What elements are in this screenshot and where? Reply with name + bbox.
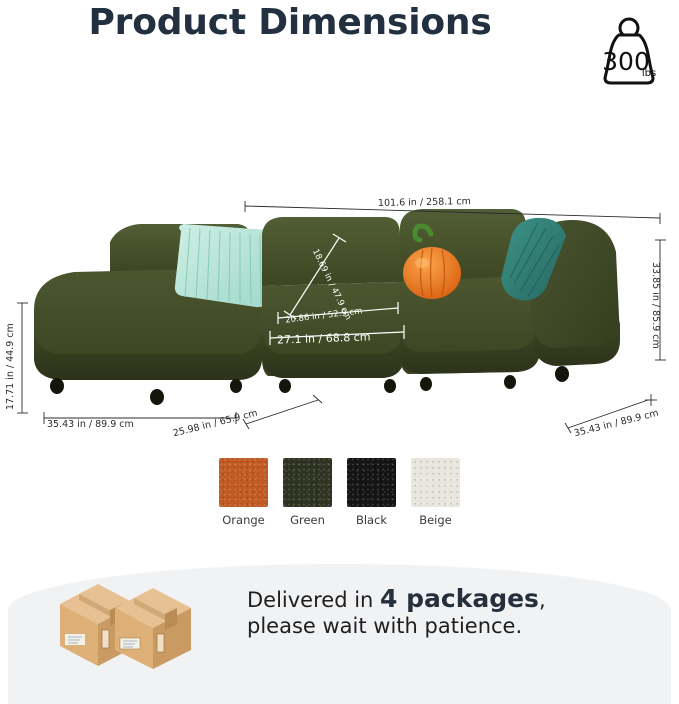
color-swatch-orange[interactable]: Orange (219, 458, 268, 527)
delivery-section: Delivered in 4 packages, please wait wit… (0, 556, 679, 674)
color-swatch-black[interactable]: Black (347, 458, 396, 527)
delivery-line-1: Delivered in 4 packages, (247, 584, 546, 614)
color-chip-orange[interactable] (219, 458, 268, 507)
dimension-label-right-height: 33.85 in / 85.9 cm (651, 262, 661, 349)
delivery-prefix: Delivered in (247, 588, 380, 612)
color-chip-black[interactable] (347, 458, 396, 507)
delivery-suffix: , (539, 588, 546, 612)
color-swatch-beige[interactable]: Beige (411, 458, 460, 527)
product-dimensions-infographic: Product Dimensions 300 lbs (0, 0, 679, 674)
dimension-label-bottom-left: 35.43 in / 89.9 cm (47, 420, 134, 430)
page-title: Product Dimensions (0, 2, 580, 43)
sofa-right-module (400, 209, 620, 391)
color-swatch-group: Orange Green Black Beige (0, 458, 679, 527)
color-chip-beige[interactable] (411, 458, 460, 507)
dimension-label-total-width: 101.6 in / 258.1 cm (378, 197, 471, 208)
color-label-beige: Beige (411, 513, 460, 527)
color-chip-green[interactable] (283, 458, 332, 507)
mint-pillow (175, 224, 275, 307)
color-label-black: Black (347, 513, 396, 527)
weight-icon: 300 lbs (592, 14, 666, 88)
packages-icon (52, 574, 232, 670)
delivery-emphasis: 4 packages (380, 584, 539, 613)
color-swatch-green[interactable]: Green (283, 458, 332, 527)
delivery-message: Delivered in 4 packages, please wait wit… (247, 584, 546, 638)
dimension-label-seat-front: 27.1 in / 68.8 cm (277, 331, 371, 345)
weight-badge: 300 lbs (592, 14, 666, 88)
delivery-line-2: please wait with patience. (247, 614, 546, 639)
packages-illustration (52, 574, 232, 670)
sofa-middle-module (262, 217, 404, 393)
weight-unit: lbs (642, 68, 656, 79)
color-label-green: Green (283, 513, 332, 527)
dimension-label-left-height: 17.71 in / 44.9 cm (6, 323, 16, 410)
color-label-orange: Orange (219, 513, 268, 527)
